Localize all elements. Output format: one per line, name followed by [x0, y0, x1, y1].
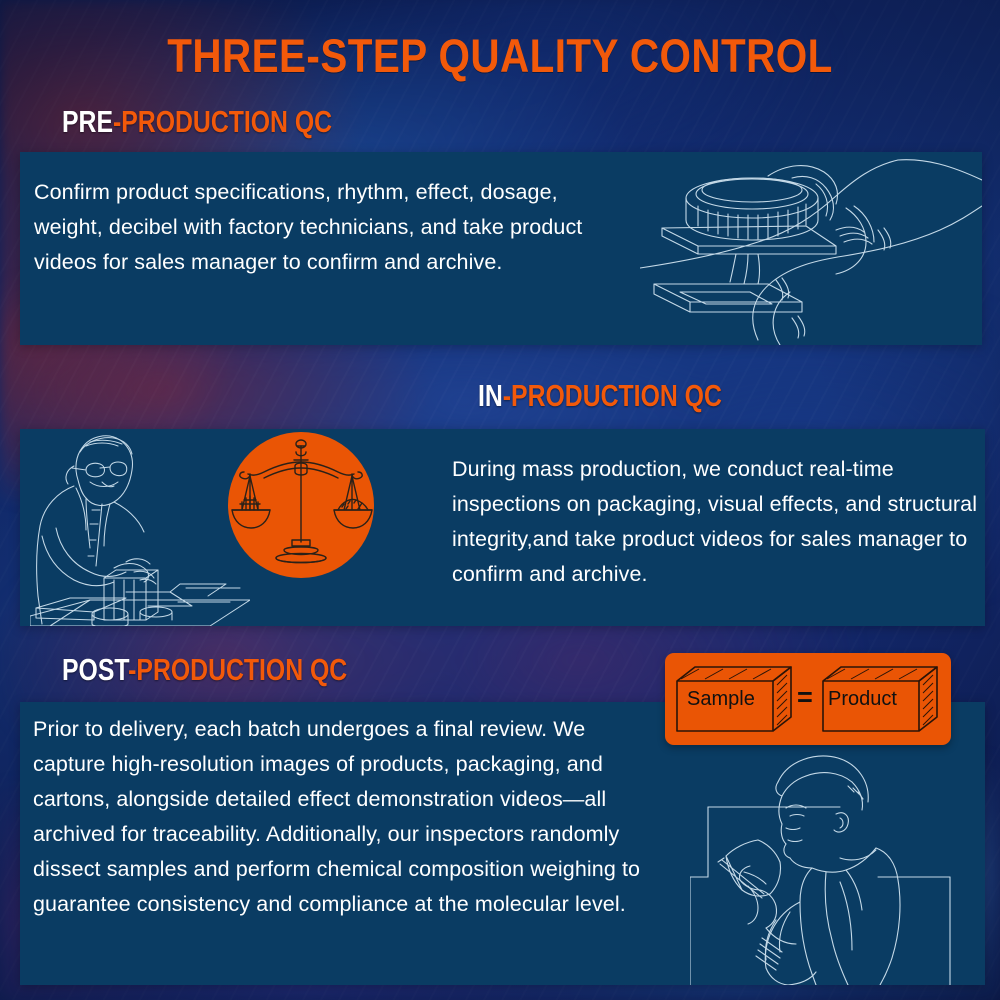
section-heading-in-prefix: IN	[478, 378, 503, 413]
section-heading-pre-prefix: PRE	[62, 104, 113, 139]
product-label: Product	[828, 688, 897, 711]
body-text-in-production: During mass production, we conduct real-…	[452, 452, 988, 592]
section-heading-pre-production: PRE-PRODUCTION QC	[62, 104, 332, 140]
sample-equals-product-badge: Sample = Product	[665, 653, 951, 745]
body-text-pre-production: Confirm product specifications, rhythm, …	[34, 175, 614, 280]
equals-sign: =	[797, 682, 813, 713]
page-title: THREE-STEP QUALITY CONTROL	[70, 28, 930, 83]
section-heading-post-prefix: POST	[62, 652, 128, 687]
section-heading-in-production: IN-PRODUCTION QC	[478, 378, 722, 414]
section-heading-post-production: POST-PRODUCTION QC	[62, 652, 347, 688]
man-with-tablet-icon	[690, 752, 960, 985]
section-heading-pre-suffix: -PRODUCTION QC	[113, 104, 332, 139]
inspector-weighing-icon	[30, 430, 250, 626]
hand-holding-product-icon	[640, 150, 982, 345]
sample-label: Sample	[687, 688, 755, 711]
section-heading-post-suffix: -PRODUCTION QC	[128, 652, 347, 687]
infographic-page: THREE-STEP QUALITY CONTROL PRE-PRODUCTIO…	[0, 0, 1000, 1000]
balance-scale-badge	[228, 432, 374, 578]
section-heading-in-suffix: -PRODUCTION QC	[503, 378, 722, 413]
body-text-post-production: Prior to delivery, each batch undergoes …	[33, 712, 663, 922]
